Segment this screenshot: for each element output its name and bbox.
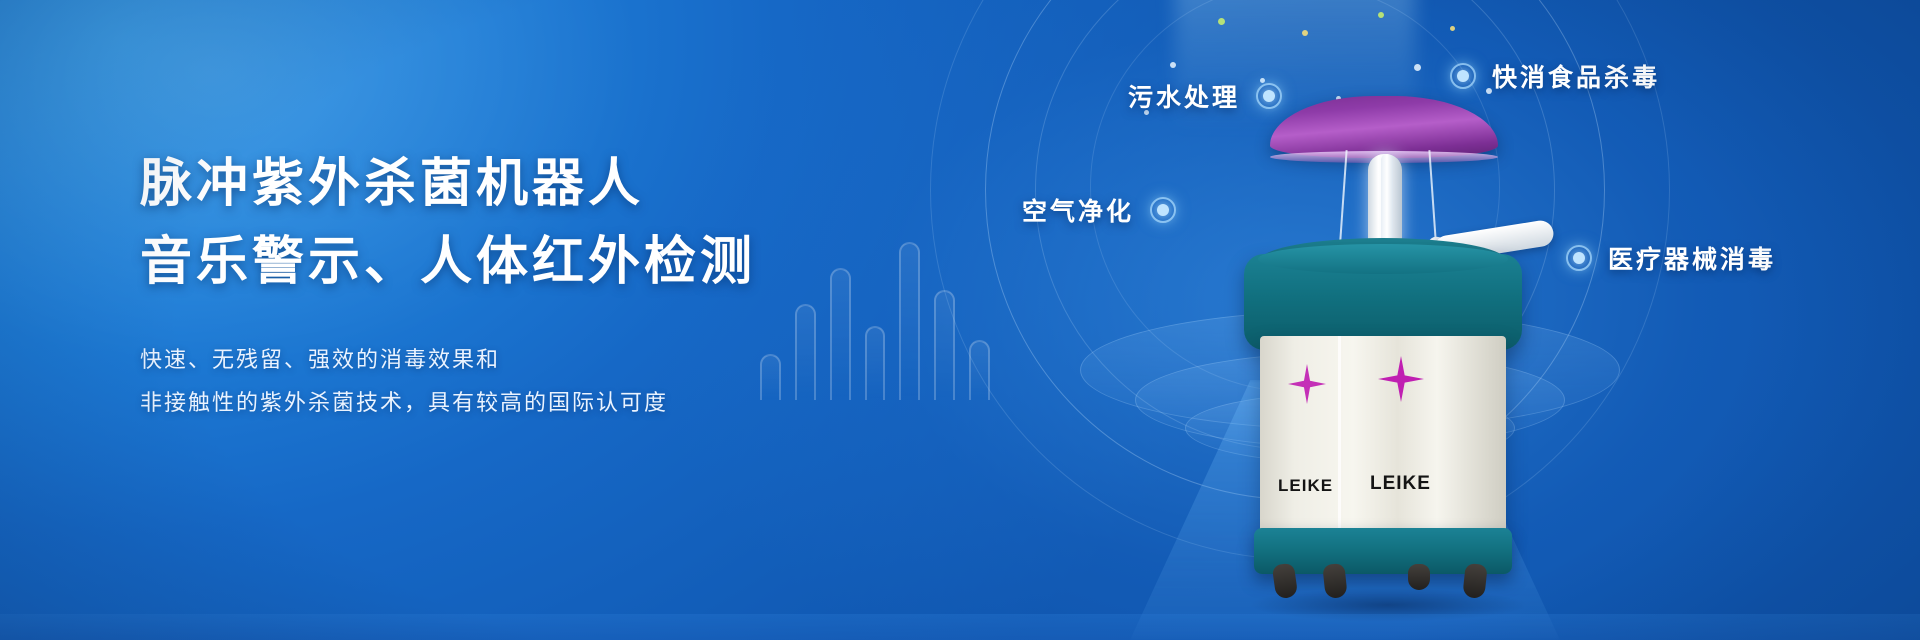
headline-primary: 脉冲紫外杀菌机器人 xyxy=(140,150,860,220)
ring-dot-icon xyxy=(1150,197,1176,223)
caster-wheel xyxy=(1408,564,1430,590)
callout-air-purification: 空气净化 xyxy=(1022,192,1176,228)
brand-label-right: LEIKE xyxy=(1370,473,1431,495)
subtext-block: 快速、无残留、强效的消毒效果和 非接触性的紫外杀菌技术，具有较高的国际认可度 xyxy=(140,339,860,425)
subtext-line-1: 快速、无残留、强效的消毒效果和 xyxy=(140,339,860,382)
body-edge-highlight xyxy=(1338,336,1341,536)
callout-label: 空气净化 xyxy=(1022,192,1134,228)
callout-label: 医疗器械消毒 xyxy=(1608,240,1776,276)
promo-banner: 脉冲紫外杀菌机器人 音乐警示、人体红外检测 快速、无残留、强效的消毒效果和 非接… xyxy=(0,0,1920,640)
subtext-line-2: 非接触性的紫外杀菌技术，具有较高的国际认可度 xyxy=(140,382,860,425)
brand-label-left: LEIKE xyxy=(1278,476,1333,496)
uv-disinfection-robot: LEIKE LEIKE xyxy=(1218,88,1578,608)
purple-reflector-dome xyxy=(1270,96,1498,158)
bottom-band xyxy=(0,614,1920,640)
callout-medical-device: 医疗器械消毒 xyxy=(1566,240,1776,276)
headline-block: 脉冲紫外杀菌机器人 音乐警示、人体红外检测 快速、无残留、强效的消毒效果和 非接… xyxy=(140,150,860,425)
ring-dot-icon xyxy=(1450,63,1476,89)
body-panel xyxy=(1260,336,1506,536)
caster-wheel xyxy=(1322,563,1347,599)
headline-secondary: 音乐警示、人体红外检测 xyxy=(140,228,860,298)
